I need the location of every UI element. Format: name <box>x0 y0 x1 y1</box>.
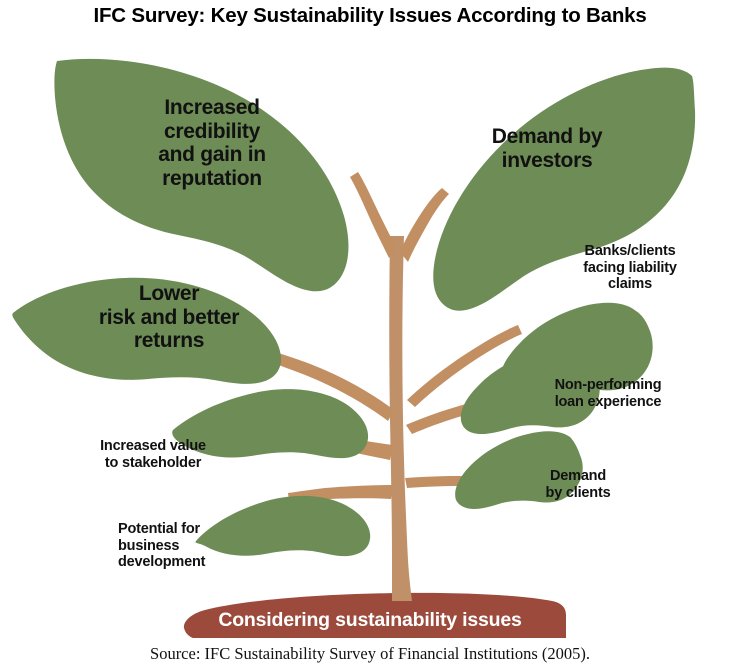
leaf-label-lower-risk: Lower risk and better returns <box>58 282 280 353</box>
leaf-label-nonperforming: Non-performing loan experience <box>520 377 696 410</box>
ground-banner-label: Considering sustainability issues <box>185 609 555 632</box>
leaf-label-credibility: Increased credibility and gain in reputa… <box>104 96 320 190</box>
branch-upper-left <box>350 172 397 258</box>
leaf-label-demand-clients: Demand by clients <box>518 468 638 501</box>
leaf-label-investors: Demand by investors <box>444 125 650 172</box>
leaf-label-liability: Banks/clients facing liability claims <box>544 243 716 293</box>
tree-trunk <box>389 236 412 601</box>
leaf-label-potential: Potential for business development <box>118 521 288 571</box>
diagram-canvas: IFC Survey: Key Sustainability Issues Ac… <box>0 0 740 671</box>
leaf-label-increased-value: Increased value to stakeholder <box>58 438 248 471</box>
source-caption: Source: IFC Sustainability Survey of Fin… <box>0 644 740 664</box>
